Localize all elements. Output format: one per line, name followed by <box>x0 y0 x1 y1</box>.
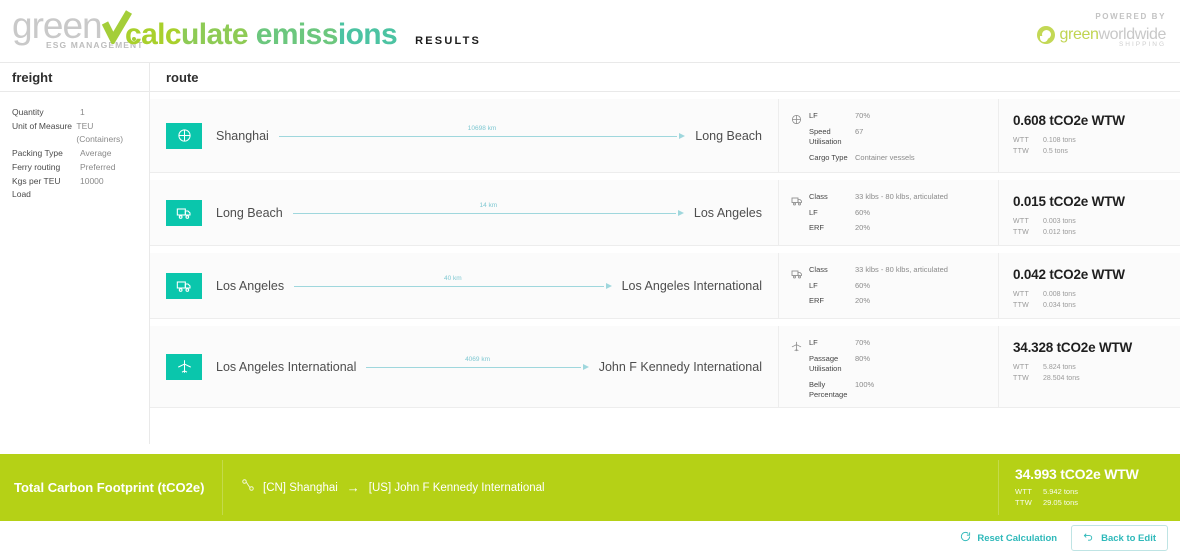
route-leg-row[interactable]: Shanghai 10698 km Long Beach <box>150 99 1180 173</box>
wtt-value: 5.942 tons <box>1043 486 1078 497</box>
leg-origin: Los Angeles <box>216 279 284 293</box>
leg-stats-list: LF 70% Passage Utilisation 80% Belly Per… <box>809 338 988 407</box>
leg-stat-key: LF <box>809 208 855 219</box>
leg-stat-value: 70% <box>855 338 870 349</box>
wtt-value: 0.003 tons <box>1043 216 1076 227</box>
leg-stat-value: 100% <box>855 380 874 401</box>
leg-emissions: 0.042 tCO2e WTW WTT 0.008 tons TTW 0.034… <box>998 253 1180 318</box>
freight-detail-key: Kgs per TEU Load <box>12 175 80 201</box>
freight-detail-value: Preferred <box>80 161 115 174</box>
leg-stat-key: ERF <box>809 296 855 307</box>
title-part-2: ulate <box>181 18 256 51</box>
plane-icon <box>166 354 202 380</box>
leg-ttw-row: TTW 28.504 tons <box>1013 373 1180 384</box>
overall-ttw-row: TTW 29.05 tons <box>1015 497 1180 508</box>
leg-emissions-total: 0.042 tCO2e WTW <box>1013 267 1180 282</box>
wtt-label: WTT <box>1013 216 1043 227</box>
reset-calculation-label: Reset Calculation <box>977 533 1057 544</box>
arrow-right-icon <box>583 364 589 370</box>
route-column-header: route <box>150 63 1180 91</box>
route-legs-panel: Shanghai 10698 km Long Beach <box>150 92 1180 444</box>
route-path-icon <box>241 478 255 497</box>
total-footprint-label: Total Carbon Footprint (tCO2e) <box>0 480 222 495</box>
truck-mode-icon <box>791 265 809 318</box>
overall-route-text: [CN] Shanghai → [US] John F Kennedy Inte… <box>263 480 545 495</box>
page-title-text: calculate emissions <box>125 18 397 52</box>
leg-diagram: Los Angeles 40 km Los Angeles Internatio… <box>150 253 778 318</box>
brand-main: green <box>12 8 132 44</box>
leg-stat-value: 33 klbs - 80 klbs, articulated <box>855 265 948 276</box>
leg-emissions: 0.608 tCO2e WTW WTT 0.108 tons TTW 0.5 t… <box>998 99 1180 172</box>
title-part-1: calc <box>125 18 181 51</box>
leg-stat-key: LF <box>809 338 855 349</box>
freight-detail-row: Kgs per TEU Load 10000 <box>12 175 139 201</box>
ttw-value: 0.5 tons <box>1043 146 1068 157</box>
freight-detail-row: Quantity 1 <box>12 106 139 119</box>
leg-wtt-row: WTT 5.824 tons <box>1013 362 1180 373</box>
freight-detail-value: 1 <box>80 106 85 119</box>
freight-detail-value: Average <box>80 147 112 160</box>
freight-detail-key: Ferry routing <box>12 161 80 174</box>
refresh-icon <box>960 531 971 545</box>
leg-ttw-row: TTW 0.034 tons <box>1013 300 1180 311</box>
powered-by-label: POWERED BY <box>1037 12 1166 21</box>
leg-stats-list: Class 33 klbs - 80 klbs, articulated LF … <box>809 265 988 318</box>
overall-route: [CN] Shanghai → [US] John F Kennedy Inte… <box>222 460 998 515</box>
content-body: Quantity 1 Unit of Measure TEU (Containe… <box>0 92 1180 444</box>
leg-ttw-row: TTW 0.5 tons <box>1013 146 1180 157</box>
partner-name-1: green <box>1060 26 1099 43</box>
leg-line <box>366 367 580 368</box>
page-title: calculate emissions RESULTS <box>125 18 481 52</box>
freight-detail-row: Packing Type Average <box>12 147 139 160</box>
wtt-label: WTT <box>1013 362 1043 373</box>
results-label: RESULTS <box>415 35 481 47</box>
greenv-logo: green ESG MANAGEMENT <box>12 8 144 50</box>
freight-detail-row: Ferry routing Preferred <box>12 161 139 174</box>
ttw-value: 29.05 tons <box>1043 497 1078 508</box>
undo-icon <box>1083 531 1094 545</box>
leg-stat: Class 33 klbs - 80 klbs, articulated <box>809 265 988 276</box>
ttw-label: TTW <box>1013 146 1043 157</box>
leg-emissions: 34.328 tCO2e WTW WTT 5.824 tons TTW 28.5… <box>998 326 1180 407</box>
leg-stat-key: Class <box>809 192 855 203</box>
leg-stat: Speed Utilisation 67 <box>809 127 988 148</box>
leg-origin: Shanghai <box>216 129 269 143</box>
leg-diagram: Shanghai 10698 km Long Beach <box>150 99 778 172</box>
leg-stat: Cargo Type Container vessels <box>809 153 988 164</box>
freight-header-label: freight <box>12 70 52 85</box>
leg-stat-key: LF <box>809 281 855 292</box>
freight-details-panel: Quantity 1 Unit of Measure TEU (Containe… <box>0 92 150 444</box>
globe-icon <box>1037 26 1055 44</box>
leg-stat: LF 70% <box>809 338 988 349</box>
leg-stat-value: 20% <box>855 223 870 234</box>
leg-stat-key: ERF <box>809 223 855 234</box>
leg-line <box>294 286 604 287</box>
leg-wtt-row: WTT 0.008 tons <box>1013 289 1180 300</box>
leg-diagram: Los Angeles International 4069 km John F… <box>150 326 778 407</box>
freight-column-header: freight <box>0 63 150 91</box>
leg-stats: Class 33 klbs - 80 klbs, articulated LF … <box>778 253 998 318</box>
wtt-label: WTT <box>1013 135 1043 146</box>
leg-stat: LF 60% <box>809 208 988 219</box>
leg-stat-value: 67 <box>855 127 863 148</box>
results-page: green ESG MANAGEMENT calculate emissions… <box>0 0 1180 554</box>
overall-wtt-row: WTT 5.942 tons <box>1015 486 1180 497</box>
leg-emissions-total: 34.328 tCO2e WTW <box>1013 340 1180 355</box>
freight-detail-key: Unit of Measure <box>12 120 76 146</box>
leg-destination: Los Angeles <box>694 206 762 220</box>
brand-name: green <box>12 8 102 44</box>
leg-stat-key: LF <box>809 111 855 122</box>
leg-wtt-row: WTT 0.003 tons <box>1013 216 1180 227</box>
leg-line <box>293 213 676 214</box>
arrow-right-icon <box>679 133 685 139</box>
leg-stat-value: 70% <box>855 111 870 122</box>
overall-route-origin: [CN] Shanghai <box>263 482 338 494</box>
ttw-label: TTW <box>1013 373 1043 384</box>
back-to-edit-button[interactable]: Back to Edit <box>1071 525 1168 551</box>
overall-total-value: 34.993 tCO2e WTW <box>1015 466 1180 482</box>
route-leg-row[interactable]: Los Angeles International 4069 km John F… <box>150 326 1180 408</box>
leg-emissions: 0.015 tCO2e WTW WTT 0.003 tons TTW 0.012… <box>998 180 1180 245</box>
action-bar: Reset Calculation Back to Edit <box>960 525 1168 551</box>
route-leg-row[interactable]: Long Beach 14 km Los Angeles <box>150 180 1180 246</box>
route-leg-row[interactable]: Los Angeles 40 km Los Angeles Internatio… <box>150 253 1180 319</box>
leg-distance: 10698 km <box>468 125 497 132</box>
freight-detail-key: Quantity <box>12 106 80 119</box>
leg-connector: 40 km <box>294 276 612 296</box>
leg-stats: LF 70% Passage Utilisation 80% Belly Per… <box>778 326 998 407</box>
wtt-value: 5.824 tons <box>1043 362 1076 373</box>
leg-stat-key: Speed Utilisation <box>809 127 855 148</box>
leg-distance: 40 km <box>444 275 462 282</box>
freight-detail-key: Packing Type <box>12 147 80 160</box>
overall-total: 34.993 tCO2e WTW WTT 5.942 tons TTW 29.0… <box>998 460 1180 515</box>
reset-calculation-button[interactable]: Reset Calculation <box>960 531 1057 545</box>
leg-destination: Los Angeles International <box>622 279 762 293</box>
plane-mode-icon <box>791 338 809 407</box>
wtt-value: 0.108 tons <box>1043 135 1076 146</box>
leg-connector: 10698 km <box>279 126 685 146</box>
ttw-label: TTW <box>1013 300 1043 311</box>
leg-stats: LF 70% Speed Utilisation 67 Cargo Type C… <box>778 99 998 172</box>
leg-stat-value: Container vessels <box>855 153 915 164</box>
leg-stats-list: Class 33 klbs - 80 klbs, articulated LF … <box>809 192 988 245</box>
leg-destination: John F Kennedy International <box>599 360 762 374</box>
leg-stat-key: Passage Utilisation <box>809 354 855 375</box>
arrow-right-icon <box>606 283 612 289</box>
leg-stats-list: LF 70% Speed Utilisation 67 Cargo Type C… <box>809 111 988 172</box>
wtt-label: WTT <box>1013 289 1043 300</box>
freight-detail-row: Unit of Measure TEU (Containers) <box>12 120 139 146</box>
ttw-value: 0.034 tons <box>1043 300 1076 311</box>
column-headers: freight route <box>0 62 1180 92</box>
leg-connector: 4069 km <box>366 357 588 377</box>
leg-diagram: Long Beach 14 km Los Angeles <box>150 180 778 245</box>
leg-stat: ERF 20% <box>809 223 988 234</box>
leg-emissions-total: 0.608 tCO2e WTW <box>1013 113 1180 128</box>
truck-mode-icon <box>791 192 809 245</box>
leg-stat: LF 70% <box>809 111 988 122</box>
leg-stat: LF 60% <box>809 281 988 292</box>
leg-stat-key: Belly Percentage <box>809 380 855 401</box>
title-part-4: ions <box>338 18 397 51</box>
leg-stat: ERF 20% <box>809 296 988 307</box>
app-header: green ESG MANAGEMENT calculate emissions… <box>0 0 1180 62</box>
total-footprint-bar: Total Carbon Footprint (tCO2e) [CN] Shan… <box>0 454 1180 521</box>
leg-stat-value: 20% <box>855 296 870 307</box>
leg-stat: Belly Percentage 100% <box>809 380 988 401</box>
leg-wtt-row: WTT 0.108 tons <box>1013 135 1180 146</box>
ttw-label: TTW <box>1015 497 1043 508</box>
leg-origin: Long Beach <box>216 206 283 220</box>
leg-stat-value: 33 klbs - 80 klbs, articulated <box>855 192 948 203</box>
leg-stat-key: Cargo Type <box>809 153 855 164</box>
leg-ttw-row: TTW 0.012 tons <box>1013 227 1180 238</box>
leg-distance: 4069 km <box>465 356 490 363</box>
truck-icon <box>166 273 202 299</box>
arrow-right-icon <box>678 210 684 216</box>
leg-line <box>279 136 677 137</box>
leg-stat-value: 80% <box>855 354 870 375</box>
overall-route-destination: [US] John F Kennedy International <box>369 482 545 494</box>
wtt-label: WTT <box>1015 486 1043 497</box>
leg-emissions-total: 0.015 tCO2e WTW <box>1013 194 1180 209</box>
leg-connector: 14 km <box>293 203 684 223</box>
leg-stat: Passage Utilisation 80% <box>809 354 988 375</box>
leg-distance: 14 km <box>479 202 497 209</box>
back-to-edit-label: Back to Edit <box>1101 533 1156 544</box>
freight-detail-value: 10000 <box>80 175 104 201</box>
leg-stats: Class 33 klbs - 80 klbs, articulated LF … <box>778 180 998 245</box>
ship-mode-icon <box>791 111 809 172</box>
ttw-label: TTW <box>1013 227 1043 238</box>
route-header-label: route <box>166 70 199 85</box>
leg-stat-key: Class <box>809 265 855 276</box>
leg-stat: Class 33 klbs - 80 klbs, articulated <box>809 192 988 203</box>
ship-icon <box>166 123 202 149</box>
truck-icon <box>166 200 202 226</box>
leg-stat-value: 60% <box>855 208 870 219</box>
title-part-3: emiss <box>256 18 338 51</box>
ttw-value: 28.504 tons <box>1043 373 1080 384</box>
arrow-right-icon: → <box>347 480 360 495</box>
ttw-value: 0.012 tons <box>1043 227 1076 238</box>
leg-stat-value: 60% <box>855 281 870 292</box>
leg-destination: Long Beach <box>695 129 762 143</box>
freight-detail-value: TEU (Containers) <box>76 120 139 146</box>
powered-by-block: POWERED BY greenworldwide SHIPPING <box>1037 12 1166 48</box>
leg-origin: Los Angeles International <box>216 360 356 374</box>
wtt-value: 0.008 tons <box>1043 289 1076 300</box>
